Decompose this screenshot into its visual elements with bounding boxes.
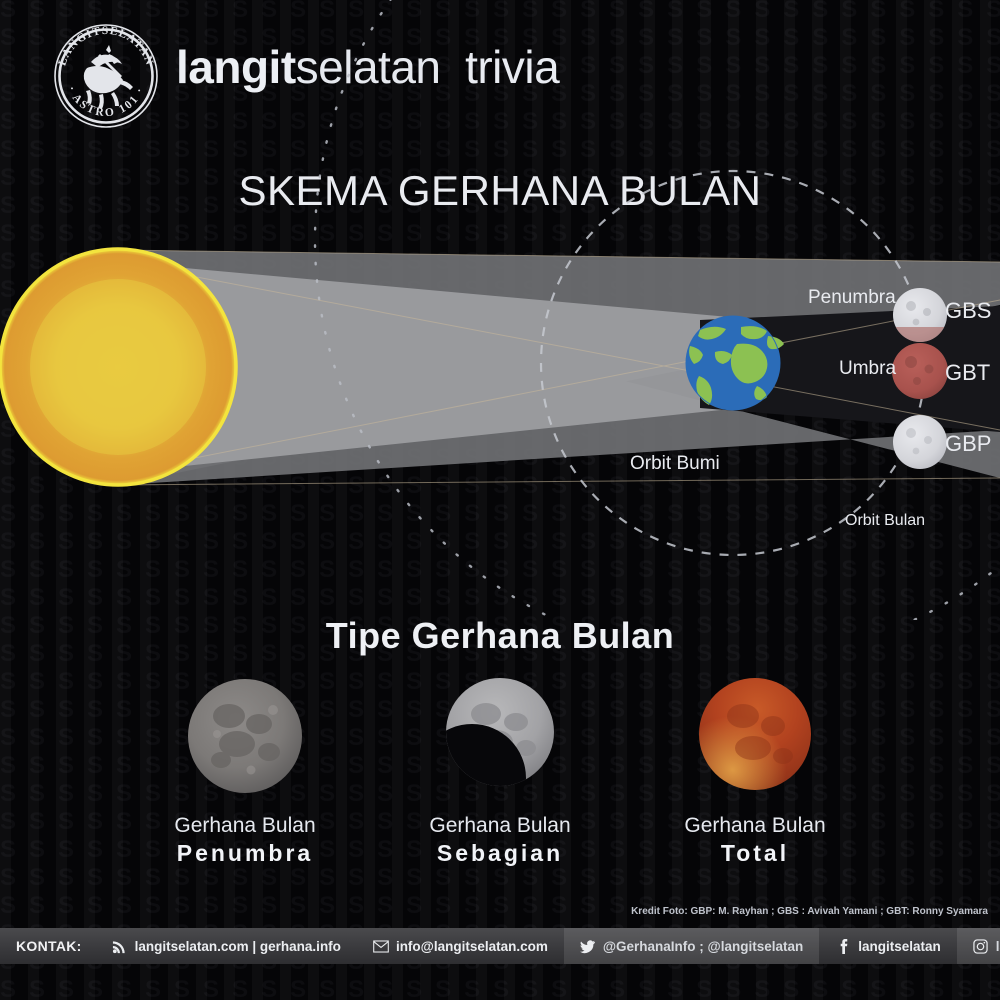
type-label-line2: Penumbra <box>115 840 375 867</box>
envelope-icon <box>373 938 389 954</box>
label-umbra: Umbra <box>839 358 896 380</box>
type-label-line1: Gerhana Bulan <box>115 814 375 838</box>
type-label-line2: Total <box>625 840 885 867</box>
contact-text: langitselatan.com | gerhana.info <box>135 939 341 954</box>
contact-bar: KONTAK: langitselatan.com | gerhana.info… <box>0 928 1000 964</box>
moon-photo-partial <box>436 672 564 800</box>
contact-item-instagram[interactable]: langitselatanmedia <box>957 928 1000 964</box>
moon-total-icon <box>892 343 948 399</box>
eclipse-type-partial: Gerhana Bulan Sebagian <box>370 672 630 867</box>
contact-label: KONTAK: <box>0 938 96 954</box>
contact-text: langitselatan <box>858 939 941 954</box>
contact-item-twitter[interactable]: @GerhanaInfo ; @langitselatan <box>564 928 819 964</box>
type-label-line2: Sebagian <box>370 840 630 867</box>
label-orbit-bumi: Orbit Bumi <box>630 453 720 475</box>
rss-icon <box>112 938 128 954</box>
contact-item-facebook[interactable]: langitselatan <box>819 928 957 964</box>
eclipse-types-row: Gerhana Bulan Penumbra <box>0 672 1000 882</box>
label-gbs: GBS <box>945 298 991 324</box>
eclipse-type-penumbral: Gerhana Bulan Penumbra <box>115 672 375 867</box>
infographic-page: SSSSSSSSSSSSSSSSSSSSSSSSSSSSSSSSSSSSSSSS… <box>0 0 1000 1000</box>
contact-item-website[interactable]: langitselatan.com | gerhana.info <box>96 928 357 964</box>
eclipse-type-total: Gerhana Bulan Total <box>625 672 885 867</box>
section-title-types: Tipe Gerhana Bulan <box>0 615 1000 657</box>
contact-text: @GerhanaInfo ; @langitselatan <box>603 939 803 954</box>
contact-text: info@langitselatan.com <box>396 939 548 954</box>
instagram-icon <box>973 938 989 954</box>
contact-item-email[interactable]: info@langitselatan.com <box>357 928 564 964</box>
moon-photo-penumbral <box>181 672 309 800</box>
label-gbp: GBP <box>945 431 991 457</box>
contact-text: langitselatanmedia <box>996 939 1000 954</box>
moon-photo-total <box>691 672 819 800</box>
type-label-line1: Gerhana Bulan <box>625 814 885 838</box>
photo-credit: Kredit Foto: GBP: M. Rayhan ; GBS : Aviv… <box>0 906 988 917</box>
facebook-icon <box>835 938 851 954</box>
sun-icon <box>0 249 236 485</box>
label-orbit-bulan: Orbit Bulan <box>845 512 925 530</box>
label-penumbra: Penumbra <box>808 287 896 309</box>
label-gbt: GBT <box>945 360 990 386</box>
moon-penumbral-icon <box>893 415 947 469</box>
twitter-icon <box>580 938 596 954</box>
type-label-line1: Gerhana Bulan <box>370 814 630 838</box>
